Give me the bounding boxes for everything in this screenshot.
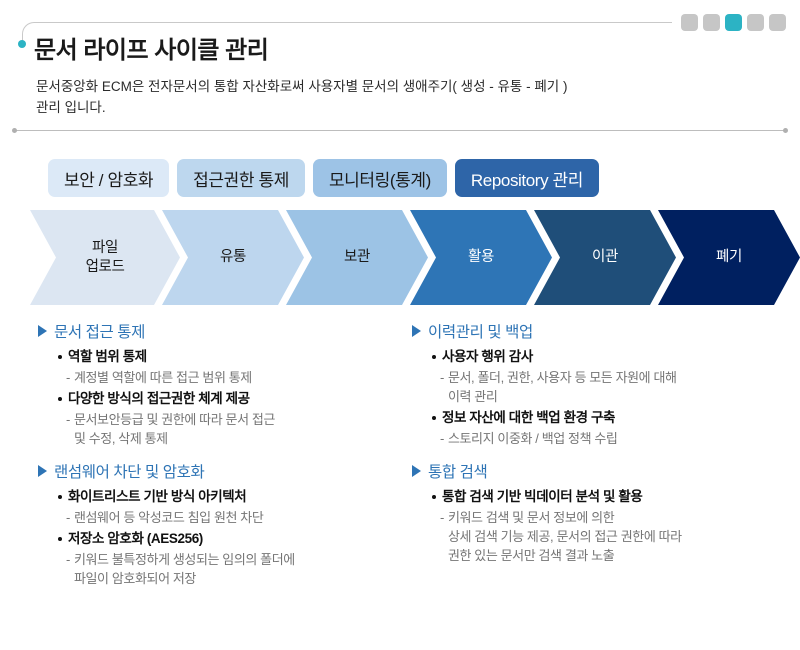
process-step-4: 활용 [410, 210, 552, 305]
pager-dot-1[interactable] [681, 14, 698, 31]
process-step-6: 폐기 [658, 210, 800, 305]
feature-bullet: 역할 범위 통제 [58, 347, 390, 367]
header-bottom-rule [14, 130, 786, 131]
feature-bullet-label: 통합 검색 기반 빅데이터 분석 및 활용 [442, 487, 642, 507]
feature-group-heading-label: 이력관리 및 백업 [428, 320, 533, 342]
feature-bullet: 저장소 암호화 (AES256) [58, 529, 390, 549]
feature-group-heading-label: 랜섬웨어 차단 및 암호화 [54, 460, 204, 482]
triangle-right-icon [38, 465, 47, 477]
content-column-left: 문서 접근 통제역할 범위 통제-계정별 역할에 따른 접근 범위 통제다양한 … [0, 320, 400, 600]
bullet-dot-icon [432, 355, 436, 359]
feature-sub-bullet-label: 문서, 폴더, 권한, 사용자 등 모든 자원에 대해 이력 관리 [448, 368, 677, 406]
feature-bullet-label: 정보 자산에 대한 백업 환경 구축 [442, 408, 615, 428]
pager-dot-5[interactable] [769, 14, 786, 31]
dash-icon: - [440, 368, 444, 387]
feature-sub-bullet-label: 계정별 역할에 따른 접근 범위 통제 [74, 368, 252, 387]
feature-group-heading: 문서 접근 통제 [38, 320, 390, 342]
content-area: 문서 접근 통제역할 범위 통제-계정별 역할에 따른 접근 범위 통제다양한 … [0, 320, 800, 600]
feature-bullet-label: 저장소 암호화 (AES256) [68, 529, 203, 549]
dash-icon: - [66, 368, 70, 387]
feature-sub-bullet: -스토리지 이중화 / 백업 정책 수립 [440, 429, 786, 448]
feature-group: 통합 검색통합 검색 기반 빅데이터 분석 및 활용-키워드 검색 및 문서 정… [412, 460, 786, 565]
feature-sub-bullet-label: 문서보안등급 및 권한에 따라 문서 접근 및 수정, 삭제 통제 [74, 410, 275, 448]
process-step-5: 이관 [534, 210, 676, 305]
page-title: 문서 라이프 사이클 관리 [34, 30, 268, 65]
feature-bullet: 사용자 행위 감사 [432, 347, 786, 367]
feature-sub-bullet-label: 스토리지 이중화 / 백업 정책 수립 [448, 429, 618, 448]
feature-bullet-label: 사용자 행위 감사 [442, 347, 533, 367]
tab-4[interactable]: Repository 관리 [455, 159, 599, 197]
triangle-right-icon [412, 465, 421, 477]
bullet-dot-icon [432, 416, 436, 420]
dash-icon: - [440, 429, 444, 448]
feature-sub-bullet: -문서, 폴더, 권한, 사용자 등 모든 자원에 대해 이력 관리 [440, 368, 786, 406]
feature-group: 문서 접근 통제역할 범위 통제-계정별 역할에 따른 접근 범위 통제다양한 … [38, 320, 390, 448]
pager-dot-2[interactable] [703, 14, 720, 31]
bullet-dot-icon [58, 397, 62, 401]
slide-pager[interactable] [681, 14, 786, 31]
dash-icon: - [66, 410, 70, 429]
feature-sub-bullet-label: 랜섬웨어 등 악성코드 침입 원천 차단 [74, 508, 263, 527]
feature-sub-bullet: -키워드 검색 및 문서 정보에 의한 상세 검색 기능 제공, 문서의 접근 … [440, 508, 786, 565]
dash-icon: - [66, 508, 70, 527]
feature-group: 랜섬웨어 차단 및 암호화화이트리스트 기반 방식 아키텍처-랜섬웨어 등 악성… [38, 460, 390, 588]
bullet-dot-icon [58, 537, 62, 541]
feature-group-heading-label: 문서 접근 통제 [54, 320, 145, 342]
feature-group: 이력관리 및 백업사용자 행위 감사-문서, 폴더, 권한, 사용자 등 모든 … [412, 320, 786, 448]
tab-3[interactable]: 모니터링(통계) [313, 159, 447, 197]
bullet-dot-icon [58, 355, 62, 359]
feature-group-heading: 이력관리 및 백업 [412, 320, 786, 342]
feature-sub-bullet: -랜섬웨어 등 악성코드 침입 원천 차단 [66, 508, 390, 527]
triangle-right-icon [412, 325, 421, 337]
feature-group-heading: 통합 검색 [412, 460, 786, 482]
feature-sub-bullet: -문서보안등급 및 권한에 따라 문서 접근 및 수정, 삭제 통제 [66, 410, 390, 448]
tab-bar[interactable]: 보안 / 암호화접근권한 통제모니터링(통계)Repository 관리 [48, 159, 599, 197]
feature-sub-bullet: -계정별 역할에 따른 접근 범위 통제 [66, 368, 390, 387]
pager-dot-4[interactable] [747, 14, 764, 31]
dash-icon: - [66, 550, 70, 569]
feature-sub-bullet-label: 키워드 불특정하게 생성되는 임의의 폴더에 파일이 암호화되어 저장 [74, 550, 295, 588]
pager-dot-3[interactable] [725, 14, 742, 31]
process-step-3: 보관 [286, 210, 428, 305]
feature-bullet-label: 화이트리스트 기반 방식 아키텍처 [68, 487, 246, 507]
bullet-dot-icon [432, 495, 436, 499]
tab-1[interactable]: 보안 / 암호화 [48, 159, 169, 197]
feature-sub-bullet: -키워드 불특정하게 생성되는 임의의 폴더에 파일이 암호화되어 저장 [66, 550, 390, 588]
feature-group-heading-label: 통합 검색 [428, 460, 487, 482]
dash-icon: - [440, 508, 444, 527]
feature-sub-bullet-label: 키워드 검색 및 문서 정보에 의한 상세 검색 기능 제공, 문서의 접근 권… [448, 508, 682, 565]
page-header: 문서 라이프 사이클 관리 문서중앙화 ECM은 전자문서의 통합 자산화로써 … [0, 0, 800, 145]
feature-bullet: 정보 자산에 대한 백업 환경 구축 [432, 408, 786, 428]
page-description: 문서중앙화 ECM은 전자문서의 통합 자산화로써 사용자별 문서의 생애주기(… [36, 76, 736, 118]
feature-bullet-label: 다양한 방식의 접근권한 체계 제공 [68, 389, 250, 409]
feature-group-heading: 랜섬웨어 차단 및 암호화 [38, 460, 390, 482]
feature-bullet: 통합 검색 기반 빅데이터 분석 및 활용 [432, 487, 786, 507]
bullet-dot-icon [58, 495, 62, 499]
triangle-right-icon [38, 325, 47, 337]
feature-bullet-label: 역할 범위 통제 [68, 347, 147, 367]
feature-bullet: 다양한 방식의 접근권한 체계 제공 [58, 389, 390, 409]
content-column-right: 이력관리 및 백업사용자 행위 감사-문서, 폴더, 권한, 사용자 등 모든 … [400, 320, 800, 600]
lifecycle-process-flow: 파일 업로드유통보관활용이관폐기 [30, 210, 770, 305]
feature-bullet: 화이트리스트 기반 방식 아키텍처 [58, 487, 390, 507]
process-step-1: 파일 업로드 [30, 210, 180, 305]
tab-2[interactable]: 접근권한 통제 [177, 159, 305, 197]
process-step-2: 유통 [162, 210, 304, 305]
header-accent-dot-icon [18, 40, 26, 48]
